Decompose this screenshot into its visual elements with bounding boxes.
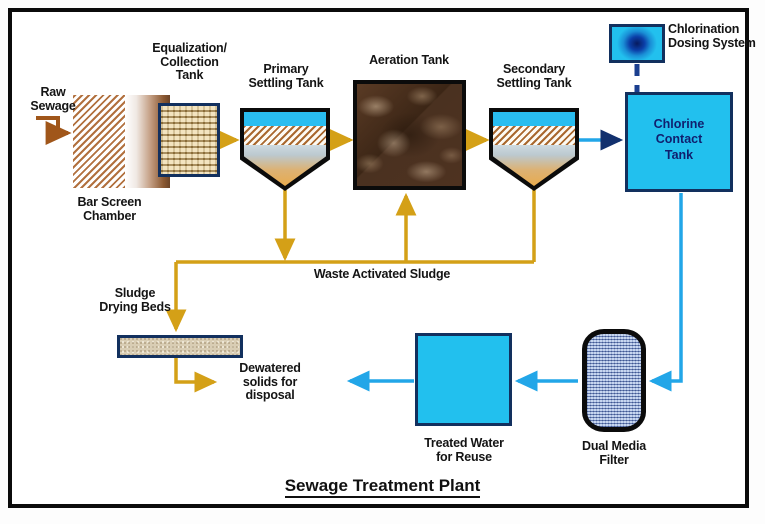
dewatered-solids-out-arrow	[176, 358, 214, 382]
label-sludge-drying-beds: Sludge Drying Beds	[85, 287, 185, 314]
chlorination-dosing-system-unit	[609, 24, 665, 63]
label-aeration-tank: Aeration Tank	[349, 54, 469, 68]
secondary-settling-tank	[489, 108, 579, 191]
primary-settling-tank-fill	[244, 112, 326, 186]
chlorine-to-filter-line	[652, 193, 681, 381]
label-primary-settling-tank: Primary Settling Tank	[236, 63, 336, 90]
primary-settling-tank-scum-layer	[244, 126, 326, 144]
label-secondary-settling-tank: Secondary Settling Tank	[482, 63, 586, 90]
sludge-drying-beds	[117, 335, 243, 358]
label-waste-activated-sludge: Waste Activated Sludge	[302, 268, 462, 282]
primary-settling-tank	[240, 108, 330, 191]
treated-water-tank	[415, 333, 512, 426]
diagram-canvas: Chlorine Contact Tank Raw Sewage Bar Scr…	[0, 0, 765, 524]
equalization-collection-tank	[158, 103, 220, 177]
secondary-settling-tank-fill	[493, 112, 575, 186]
page-title: Sewage Treatment Plant	[0, 476, 765, 496]
label-bar-screen-chamber: Bar Screen Chamber	[52, 196, 167, 223]
label-chlorination-dosing-system: Chlorination Dosing System	[668, 23, 765, 50]
page-title-text: Sewage Treatment Plant	[285, 476, 481, 498]
secondary-settling-tank-scum-layer	[493, 126, 575, 144]
label-treated-water: Treated Water for Reuse	[414, 437, 514, 464]
chlorine-contact-tank: Chlorine Contact Tank	[625, 92, 733, 192]
raw-sewage-inlet-arrow	[36, 118, 68, 133]
dual-media-filter-vessel	[582, 329, 646, 432]
label-dewatered-solids: Dewatered solids for disposal	[222, 362, 318, 403]
aeration-tank	[353, 80, 466, 190]
label-equalization-tank: Equalization/ Collection Tank	[132, 42, 247, 83]
label-dual-media-filter: Dual Media Filter	[566, 440, 662, 467]
label-raw-sewage: Raw Sewage	[18, 86, 88, 113]
chlorine-contact-tank-label: Chlorine Contact Tank	[628, 117, 730, 163]
